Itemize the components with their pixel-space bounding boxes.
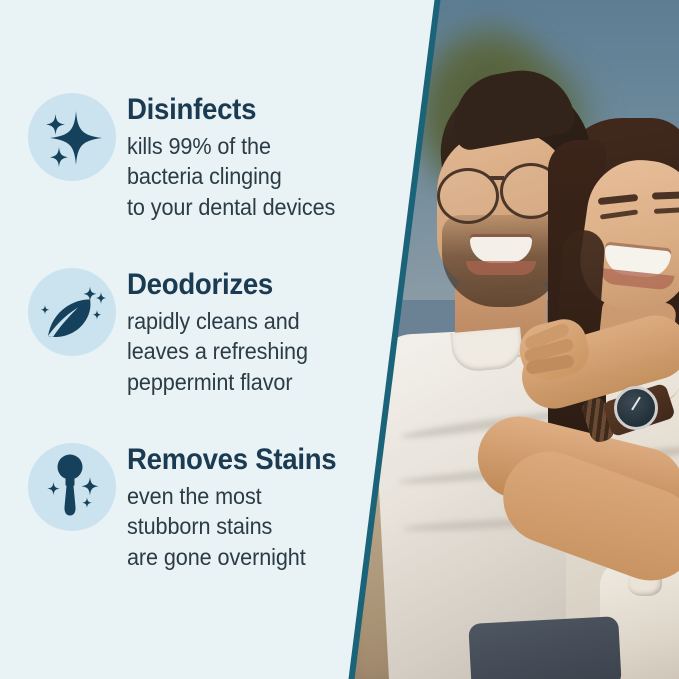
feature-text: Deodorizes rapidly cleans and leaves a r… — [127, 268, 319, 397]
feature-text: Removes Stains even the most stubborn st… — [127, 443, 355, 572]
mint-leaf-icon — [28, 268, 116, 356]
dental-brush-icon — [28, 443, 116, 531]
feature-body: rapidly cleans and leaves a refreshing p… — [127, 306, 308, 398]
feature-text: Disinfects kills 99% of the bacteria cli… — [127, 93, 349, 222]
feature-item-removes-stains: Removes Stains even the most stubborn st… — [28, 443, 355, 572]
promo-graphic: Disinfects kills 99% of the bacteria cli… — [0, 0, 679, 679]
feature-heading: Deodorizes — [127, 270, 304, 301]
feature-heading: Removes Stains — [127, 445, 336, 476]
feature-heading: Disinfects — [127, 95, 331, 126]
sparkle-icon — [28, 93, 116, 181]
feature-item-deodorizes: Deodorizes rapidly cleans and leaves a r… — [28, 268, 319, 397]
feature-item-disinfects: Disinfects kills 99% of the bacteria cli… — [28, 93, 349, 222]
feature-body: even the most stubborn stains are gone o… — [127, 481, 341, 573]
feature-body: kills 99% of the bacteria clinging to yo… — [127, 131, 335, 223]
